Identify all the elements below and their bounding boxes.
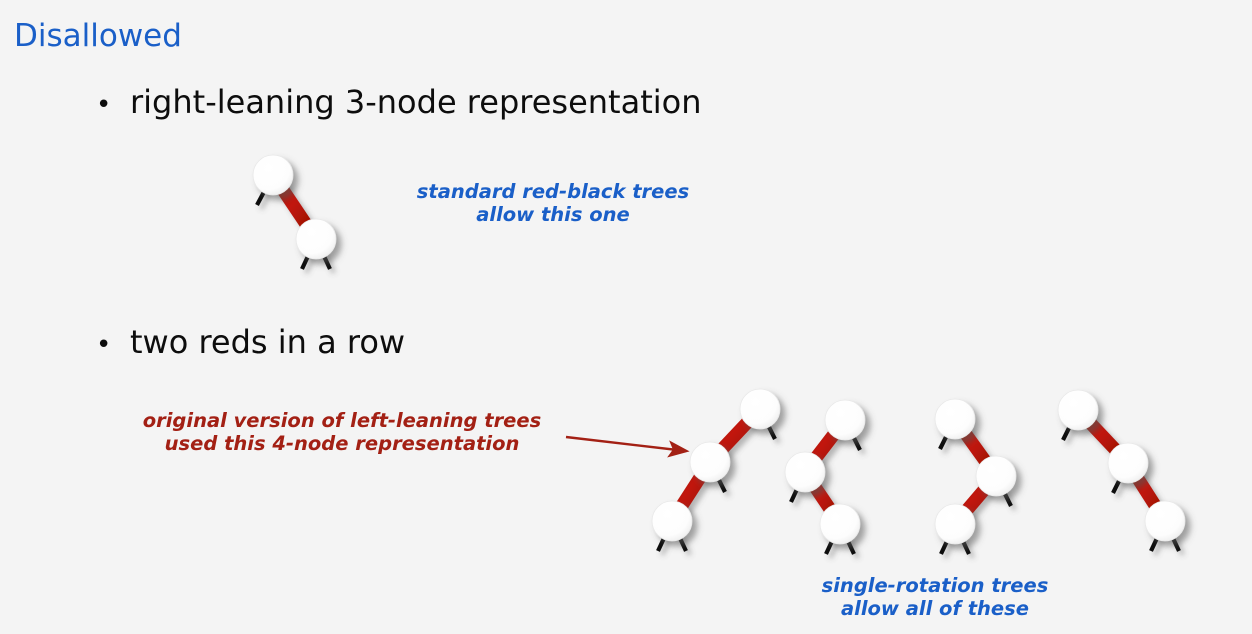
tree-node [935, 399, 975, 439]
tree-node [976, 456, 1016, 496]
null-link [1113, 463, 1128, 493]
bullet-label: two reds in a row [130, 326, 405, 358]
tree-node [690, 442, 730, 482]
tree-node [296, 219, 336, 259]
null-link [845, 420, 860, 450]
red-link [1078, 410, 1128, 463]
null-link [672, 521, 686, 551]
null-link [1063, 410, 1078, 440]
pointer-arrow-layer [566, 437, 686, 451]
slide-canvas: Disallowed • right-leaning 3-node repres… [0, 0, 1252, 634]
null-link [760, 409, 775, 439]
red-link [273, 175, 316, 239]
tree-node [1145, 501, 1185, 541]
red-link [1128, 463, 1165, 521]
null-link [791, 472, 805, 502]
bullet-item-two-reds: • two reds in a row [96, 326, 405, 358]
tree-node [935, 504, 975, 544]
null-link [302, 239, 316, 269]
null-link [658, 521, 672, 551]
red-link [805, 472, 840, 524]
null-link [710, 462, 725, 492]
annotation-standard-red-black: standard red-black trees allow this one [403, 180, 703, 226]
tree-node [785, 452, 825, 492]
null-link [940, 419, 955, 449]
pointer-arrow-icon [566, 437, 686, 451]
null-link [826, 524, 840, 554]
null-link [316, 239, 330, 269]
bullet-item-right-leaning: • right-leaning 3-node representation [96, 86, 701, 118]
red-link [805, 420, 845, 472]
null-link [941, 524, 955, 554]
null-link [1165, 521, 1179, 551]
null-link [257, 175, 273, 205]
tree-node [1108, 443, 1148, 483]
red-links-layer [273, 175, 1165, 524]
tree-node [652, 501, 692, 541]
page-title: Disallowed [14, 18, 182, 54]
annotation-original-left-leaning: original version of left-leaning trees u… [136, 409, 548, 455]
tree-node [1058, 390, 1098, 430]
null-link [955, 524, 969, 554]
annotation-single-rotation: single-rotation trees allow all of these [800, 574, 1070, 620]
red-link [710, 409, 760, 462]
null-link [1151, 521, 1165, 551]
null-link [996, 476, 1011, 506]
red-link [672, 462, 710, 521]
bullet-marker-icon: • [96, 332, 130, 358]
tree-node [825, 400, 865, 440]
bullet-label: right-leaning 3-node representation [130, 86, 701, 118]
null-links-layer [257, 175, 1179, 554]
null-link [840, 524, 854, 554]
tree-node [740, 389, 780, 429]
tree-node [253, 155, 293, 195]
red-link [955, 476, 996, 524]
tree-node [820, 504, 860, 544]
bullet-marker-icon: • [96, 92, 130, 118]
red-link [955, 419, 996, 476]
